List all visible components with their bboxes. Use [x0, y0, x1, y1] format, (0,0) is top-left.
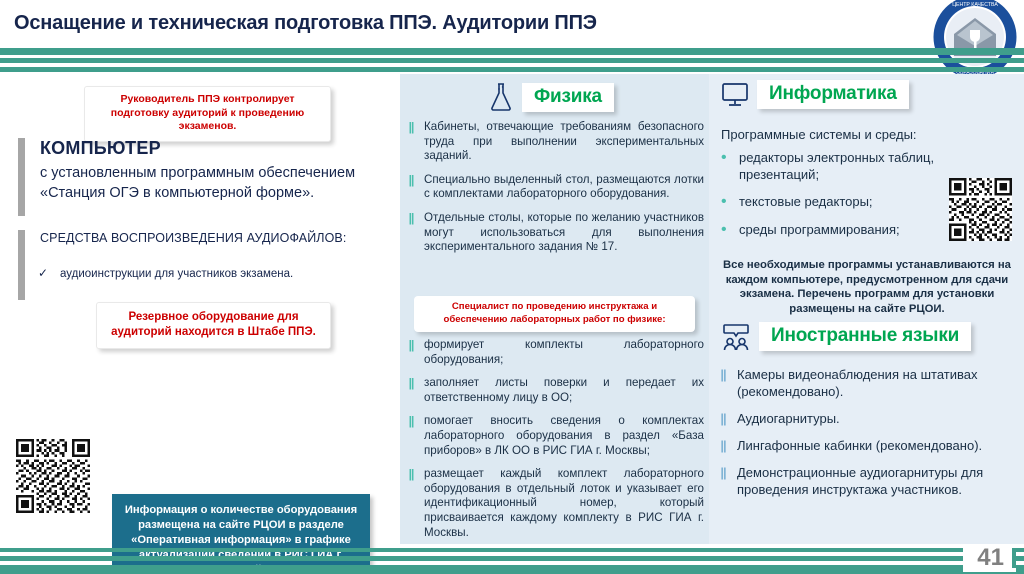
bullet-icon: • [721, 150, 729, 183]
physics-specialist-list: || формирует комплекты лабораторного обо… [404, 338, 704, 549]
monitor-icon [721, 82, 749, 108]
list-item: || Специально выделенный стол, размещают… [404, 173, 704, 202]
footer-stripe-2 [0, 556, 1024, 561]
bullet-icon: || [404, 414, 418, 458]
list-item: || заполняет листы поверки и передает их… [404, 376, 704, 405]
flask-icon [488, 82, 514, 112]
computer-heading: КОМПЬЮТЕР [40, 138, 378, 159]
bullet-icon: • [721, 194, 729, 211]
list-item: || Лингафонные кабинки (рекомендовано). [717, 437, 1017, 454]
bullet-icon: || [404, 376, 418, 405]
accent-bar-computer [18, 138, 25, 216]
list-item-text: формирует комплекты лабораторного оборуд… [424, 338, 704, 367]
audio-check-text: аудиоинструкции для участников экзамена. [60, 268, 293, 280]
callout-ppe-leader: Руководитель ППЭ контролирует подготовку… [84, 86, 331, 142]
bullet-icon: || [717, 366, 729, 400]
bullet-icon: || [717, 410, 729, 427]
list-item-text: заполняет листы поверки и передает их от… [424, 376, 704, 405]
physics-title: Физика [522, 83, 614, 112]
qr-code-image [949, 178, 1012, 241]
list-item-text: Камеры видеонаблюдения на штативах (реко… [737, 366, 1017, 400]
list-item-text: Лингафонные кабинки (рекомендовано). [737, 437, 1017, 454]
header-stripe-3 [0, 67, 1024, 72]
page-title: Оснащение и техническая подготовка ППЭ. … [14, 12, 597, 35]
informatics-title: Информатика [757, 80, 909, 109]
informatics-header: Информатика [721, 80, 909, 109]
header-stripe-1 [0, 48, 1024, 55]
bullet-icon: || [404, 211, 418, 255]
list-item: || размещает каждый комплект лабораторно… [404, 467, 704, 540]
list-item-text: Отдельные столы, которые по желанию учас… [424, 211, 704, 255]
bullet-icon: • [721, 222, 729, 239]
list-item-text: среды программирования; [739, 222, 951, 239]
audio-check-row: ✓аудиоинструкции для участников экзамена… [38, 266, 388, 280]
informatics-note: Все необходимые программы устанавливаютс… [717, 258, 1017, 316]
bullet-icon: || [717, 437, 729, 454]
informatics-list: • редакторы электронных таблиц, презента… [721, 150, 951, 249]
footer-stripes [0, 544, 1024, 574]
list-item: || помогает вносить сведения о комплекта… [404, 414, 704, 458]
qr-code-rcoi-right[interactable] [949, 178, 1012, 241]
list-item-text: помогает вносить сведения о комплектах л… [424, 414, 704, 458]
callout-physics-specialist: Специалист по проведению инструктажа и о… [414, 296, 695, 332]
svg-text:ЦЕНТР КАЧЕСТВА: ЦЕНТР КАЧЕСТВА [952, 2, 998, 8]
footer-stripe-3 [0, 565, 1024, 574]
list-item: || Кабинеты, отвечающие требованиям безо… [404, 120, 704, 164]
list-item-text: редакторы электронных таблиц, презентаци… [739, 150, 951, 183]
qr-code-image [16, 439, 90, 513]
bullet-icon: || [404, 120, 418, 164]
callout-reserve-equipment: Резервное оборудование для аудиторий нах… [96, 302, 331, 349]
list-item: || Аудиогарнитуры. [717, 410, 1017, 427]
list-item: • текстовые редакторы; [721, 194, 951, 211]
header-stripe-2 [0, 58, 1024, 63]
list-item-text: Демонстрационные аудиогарнитуры для пров… [737, 464, 1017, 498]
bullet-icon: || [717, 464, 729, 498]
slide: Оснащение и техническая подготовка ППЭ. … [0, 0, 1024, 574]
computer-text: с установленным программным обеспечением… [40, 163, 378, 203]
page-number-tick [1012, 548, 1016, 568]
qr-code-rcoi-left[interactable] [16, 439, 90, 513]
bullet-icon: || [404, 467, 418, 540]
check-icon: ✓ [38, 266, 60, 280]
languages-header: Иностранные языки [721, 322, 971, 351]
list-item: || Демонстрационные аудиогарнитуры для п… [717, 464, 1017, 498]
languages-list: || Камеры видеонаблюдения на штативах (р… [717, 366, 1017, 508]
physics-header: Физика [488, 82, 614, 112]
physics-requirements-list: || Кабинеты, отвечающие требованиям безо… [404, 120, 704, 264]
informatics-lead: Программные системы и среды: [721, 126, 917, 143]
slide-header: Оснащение и техническая подготовка ППЭ. … [0, 0, 1024, 48]
list-item: || Отдельные столы, которые по желанию у… [404, 211, 704, 255]
audio-heading: СРЕДСТВА ВОСПРОИЗВЕДЕНИЯ АУДИОФАЙЛОВ: [40, 230, 358, 246]
page-number-value: 41 [977, 544, 1004, 571]
list-item-text: размещает каждый комплект лабораторного … [424, 467, 704, 540]
list-item-text: Кабинеты, отвечающие требованиям безопас… [424, 120, 704, 164]
right-column: Информатика Программные системы и среды:… [709, 74, 1024, 544]
list-item: • среды программирования; [721, 222, 951, 239]
languages-title: Иностранные языки [759, 322, 971, 351]
list-item-text: Аудиогарнитуры. [737, 410, 1017, 427]
page-number: 41 [963, 544, 1016, 572]
list-item: • редакторы электронных таблиц, презента… [721, 150, 951, 183]
audio-block: СРЕДСТВА ВОСПРОИЗВЕДЕНИЯ АУДИОФАЙЛОВ: [18, 230, 358, 300]
bullet-icon: || [404, 173, 418, 202]
left-column: Руководитель ППЭ контролирует подготовку… [0, 74, 400, 544]
list-item-text: Специально выделенный стол, размещаются … [424, 173, 704, 202]
accent-bar-audio [18, 230, 25, 300]
speaking-people-icon [721, 323, 751, 351]
list-item: || формирует комплекты лабораторного обо… [404, 338, 704, 367]
bullet-icon: || [404, 338, 418, 367]
list-item: || Камеры видеонаблюдения на штативах (р… [717, 366, 1017, 400]
footer-stripe-1 [0, 548, 1024, 552]
header-stripes [0, 48, 1024, 74]
physics-column: Физика || Кабинеты, отвечающие требовани… [400, 74, 709, 544]
computer-block: КОМПЬЮТЕР с установленным программным об… [18, 138, 378, 216]
list-item-text: текстовые редакторы; [739, 194, 951, 211]
